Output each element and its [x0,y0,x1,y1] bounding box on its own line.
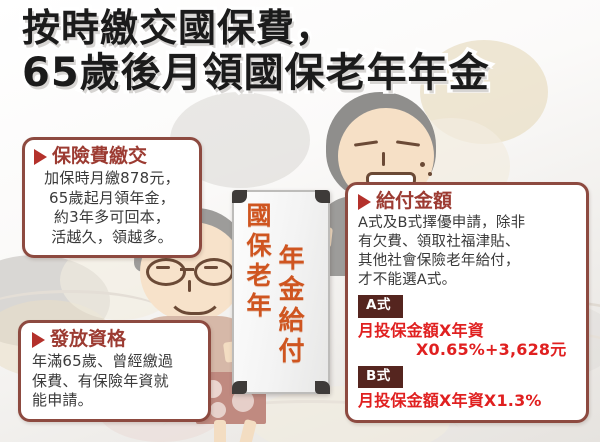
benefit-line: 才不能選A式。 [358,271,577,290]
grandpa-glasses-bridge [180,268,194,271]
sign-text-column-1: 國保老年 [245,202,270,322]
eligibility-heading-row: 發放資格 [32,330,199,349]
eligibility-body: 年滿65歲、曾經繳過 保費、有保險年資就 能申請。 [32,352,199,411]
grandpa-eye-left [156,266,170,269]
formula-a-badge: A式 [358,295,403,318]
formula-b-line-1: 月投保金額X年資X1.3% [358,391,542,410]
premium-line: 約3年多可回本， [34,208,190,228]
grandma-leg-left [214,420,226,442]
dress-pattern [210,402,226,418]
eligibility-heading: 發放資格 [50,330,126,349]
benefit-heading-row: 給付金額 [358,192,577,211]
eligibility-line: 保費、有保險年資就 [32,372,199,392]
grandma-nose [382,152,385,166]
formula-b-badge: B式 [358,366,403,389]
sign-corner-bottom-right [315,381,330,394]
benefit-body: A式及B式擇優申請，除非 有欠費、領取社福津貼、 其他社會保險老年給付， 才不能… [358,214,577,289]
grandma-mole [428,172,432,176]
eligibility-line: 能申請。 [32,391,199,411]
benefit-line: 其他社會保險老年給付， [358,252,577,271]
eligibility-line: 年滿65歲、曾經繳過 [32,352,199,372]
triangle-bullet-icon [34,149,47,165]
callout-benefit-amount: 給付金額 A式及B式擇優申請，除非 有欠費、領取社福津貼、 其他社會保險老年給付… [345,182,589,423]
grandpa-glasses-right [194,258,234,286]
premium-body: 加保時月繳878元， 65歲起月領年金， 約3年多可回本， 活越久，領越多。 [34,169,190,247]
premium-heading-row: 保險費繳交 [34,147,190,166]
signboard: 國保老年 年金給付 [232,190,330,394]
sign-text-column-2: 年金給付 [276,244,302,368]
formula-a-line-2: X0.65%+3,628元 [358,340,577,360]
callout-eligibility: 發放資格 年滿65歲、曾經繳過 保費、有保險年資就 能申請。 [18,320,211,422]
infographic-canvas: 國保老年 年金給付 按時繳交國保費， 65歲後月領國保老年年金 保險費繳交 加保… [0,0,600,442]
triangle-bullet-icon [358,194,371,210]
premium-line: 加保時月繳878元， [34,169,190,189]
triangle-bullet-icon [32,332,45,348]
sign-corner-top-right [315,190,330,203]
grandpa-glasses-left [146,258,186,286]
formula-a-line-1: 月投保金額X年資 [358,321,484,340]
grandpa-eye-right [204,266,218,269]
formula-b: 月投保金額X年資X1.3% [358,391,577,411]
formula-a: 月投保金額X年資 X0.65%+3,628元 [358,321,577,360]
premium-line: 活越久，領越多。 [34,228,190,248]
callout-premium-payment: 保險費繳交 加保時月繳878元， 65歲起月領年金， 約3年多可回本， 活越久，… [22,137,202,258]
sign-corner-bottom-left [232,381,247,394]
benefit-line: 有欠費、領取社福津貼、 [358,233,577,252]
grandma-mole [420,162,425,167]
premium-heading: 保險費繳交 [52,147,147,166]
benefit-line: A式及B式擇優申請，除非 [358,214,577,233]
benefit-heading: 給付金額 [376,192,452,211]
premium-line: 65歲起月領年金， [34,189,190,209]
